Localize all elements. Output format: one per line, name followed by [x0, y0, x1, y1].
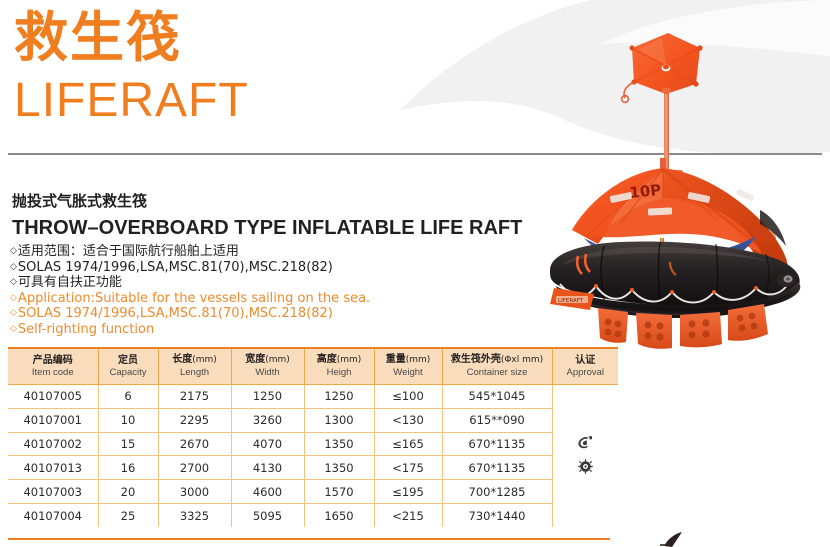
list-item: ◇ Application:Suitable for the vessels s… [10, 291, 480, 307]
cell-approval [552, 385, 618, 409]
cell-capacity: 20 [98, 480, 158, 504]
cell-weight: <215 [374, 503, 442, 527]
cell-capacity: 16 [98, 456, 158, 480]
column-header-capacity: 定员 Capacity [98, 348, 158, 385]
cell-height: 1350 [304, 456, 374, 480]
product-photo-small-canopy [592, 18, 732, 180]
cell-item-code: 40107001 [8, 408, 98, 432]
cell-capacity: 6 [98, 385, 158, 409]
table-body: 40107005 6 2175 1250 1250 ≤100 545*1045 … [8, 385, 618, 528]
photo-fragment-bottom [660, 532, 686, 547]
cell-item-code: 40107002 [8, 432, 98, 456]
column-header-item-code: 产品编码 Item code [8, 348, 98, 385]
cell-length: 2175 [158, 385, 231, 409]
column-header-en: Weight [377, 367, 440, 379]
list-item: ◇ Self-righting function [10, 322, 480, 338]
cell-item-code: 40107005 [8, 385, 98, 409]
cell-capacity: 25 [98, 503, 158, 527]
list-item: ◇ SOLAS 1974/1996,LSA,MSC.81(70),MSC.218… [10, 260, 480, 276]
page-title-cn: 救生筏 [14, 8, 182, 68]
cell-item-code: 40107003 [8, 480, 98, 504]
table-row: 40107002 15 2670 4070 1350 ≤165 670*1135 [8, 432, 618, 456]
cell-approval [552, 432, 618, 456]
column-header-en: Capacity [101, 367, 156, 379]
column-header-container-size: 救生筏外壳(Φxl mm) Container size [442, 348, 552, 385]
specification-table: 产品编码 Item code 定员 Capacity 长度(mm) Length… [8, 347, 618, 527]
cell-width: 1250 [231, 385, 304, 409]
cell-width: 4600 [231, 480, 304, 504]
cell-width: 5095 [231, 503, 304, 527]
product-catalog-page: 救生筏 LIFERAFT 抛投式气胀式救生筏 THROW–OVERBOARD T… [0, 0, 830, 547]
cell-container-size: 700*1285 [442, 480, 552, 504]
list-item: ◇ SOLAS 1974/1996,LSA,MSC.81(70),MSC.218… [10, 306, 480, 322]
column-header-en: Container size [445, 367, 550, 379]
column-header-en: Width [234, 367, 302, 379]
column-header-cn: 救生筏外壳(Φxl mm) [445, 353, 550, 367]
cell-length: 2295 [158, 408, 231, 432]
column-header-cn: 长度(mm) [161, 353, 229, 367]
diamond-bullet-icon: ◇ [10, 275, 17, 291]
table-row: 40107004 25 3325 5095 1650 <215 730*1440 [8, 503, 618, 527]
list-item: ◇ 可具有自扶正功能 [10, 275, 480, 291]
list-item-label: Application:Suitable for the vessels sai… [18, 291, 370, 307]
cell-weight: ≤195 [374, 480, 442, 504]
column-header-en: Length [161, 367, 229, 379]
cell-width: 4130 [231, 456, 304, 480]
list-item-label: SOLAS 1974/1996,LSA,MSC.81(70),MSC.218(8… [18, 260, 333, 276]
table-header-row: 产品编码 Item code 定员 Capacity 长度(mm) Length… [8, 348, 618, 385]
cell-container-size: 670*1135 [442, 432, 552, 456]
table-row: 40107005 6 2175 1250 1250 ≤100 545*1045 [8, 385, 618, 409]
table-row: 40107013 16 2700 4130 1350 <175 670*1135 [8, 456, 618, 480]
diamond-bullet-icon: ◇ [10, 291, 17, 307]
cell-container-size: 545*1045 [442, 385, 552, 409]
cell-height: 1250 [304, 385, 374, 409]
column-header-cn: 产品编码 [10, 354, 96, 367]
column-header-cn: 高度(mm) [307, 353, 372, 367]
cell-weight: ≤100 [374, 385, 442, 409]
column-header-width: 宽度(mm) Width [231, 348, 304, 385]
diamond-bullet-icon: ◇ [10, 322, 17, 338]
column-header-en: Heigh [307, 367, 372, 379]
cell-height: 1570 [304, 480, 374, 504]
column-header-cn: 定员 [101, 354, 156, 367]
diamond-bullet-icon: ◇ [10, 244, 17, 260]
page-title-en: LIFERAFT [14, 74, 249, 128]
cell-length: 2670 [158, 432, 231, 456]
cell-item-code: 40107013 [8, 456, 98, 480]
cell-approval [552, 480, 618, 504]
cell-height: 1300 [304, 408, 374, 432]
cell-container-size: 670*1135 [442, 456, 552, 480]
diamond-bullet-icon: ◇ [10, 260, 17, 276]
wheelmark-certification-icon [578, 459, 593, 474]
cell-approval [552, 503, 618, 527]
cell-container-size: 730*1440 [442, 503, 552, 527]
cell-length: 2700 [158, 456, 231, 480]
cell-height: 1350 [304, 432, 374, 456]
cell-height: 1650 [304, 503, 374, 527]
list-item-label: SOLAS 1974/1996,LSA,MSC.81(70),MSC.218(8… [18, 306, 333, 322]
cell-container-size: 615**090 [442, 408, 552, 432]
column-header-en: Item code [10, 367, 96, 379]
product-subtitle-cn: 抛投式气胀式救生筏 [12, 192, 147, 211]
column-header-cn: 重量(mm) [377, 353, 440, 367]
cell-capacity: 10 [98, 408, 158, 432]
column-header-en: Approval [555, 367, 617, 379]
diamond-bullet-icon: ◇ [10, 306, 17, 322]
ccs-certification-icon [577, 435, 594, 450]
cell-item-code: 40107004 [8, 503, 98, 527]
cell-capacity: 15 [98, 432, 158, 456]
column-header-weight: 重量(mm) Weight [374, 348, 442, 385]
cell-approval [552, 408, 618, 432]
list-item-label: 可具有自扶正功能 [18, 275, 122, 291]
cell-width: 3260 [231, 408, 304, 432]
spec-bullet-list: ◇ 适用范围：适合于国际航行船舶上适用 ◇ SOLAS 1974/1996,LS… [10, 244, 480, 337]
cell-approval [552, 456, 618, 480]
list-item-label: 适用范围：适合于国际航行船舶上适用 [18, 244, 239, 260]
column-header-approval: 认证 Approval [552, 348, 618, 385]
cell-width: 4070 [231, 432, 304, 456]
table-row: 40107003 20 3000 4600 1570 ≤195 700*1285 [8, 480, 618, 504]
table-bottom-rule [8, 538, 610, 540]
column-header-length: 长度(mm) Length [158, 348, 231, 385]
list-item: ◇ 适用范围：适合于国际航行船舶上适用 [10, 244, 480, 260]
cell-weight: <130 [374, 408, 442, 432]
cell-weight: ≤165 [374, 432, 442, 456]
list-item-label: Self-righting function [18, 322, 154, 338]
product-photo-liferaft: 10P [520, 158, 830, 350]
cell-length: 3325 [158, 503, 231, 527]
product-subtitle-en: THROW–OVERBOARD TYPE INFLATABLE LIFE RAF… [12, 216, 522, 240]
photo-capacity-label: 10P [629, 181, 663, 202]
table-row: 40107001 10 2295 3260 1300 <130 615**090 [8, 408, 618, 432]
svg-text:LIFERAFT: LIFERAFT [558, 298, 584, 304]
column-header-height: 高度(mm) Heigh [304, 348, 374, 385]
cell-length: 3000 [158, 480, 231, 504]
column-header-cn: 宽度(mm) [234, 353, 302, 367]
column-header-cn: 认证 [555, 354, 617, 367]
cell-weight: <175 [374, 456, 442, 480]
